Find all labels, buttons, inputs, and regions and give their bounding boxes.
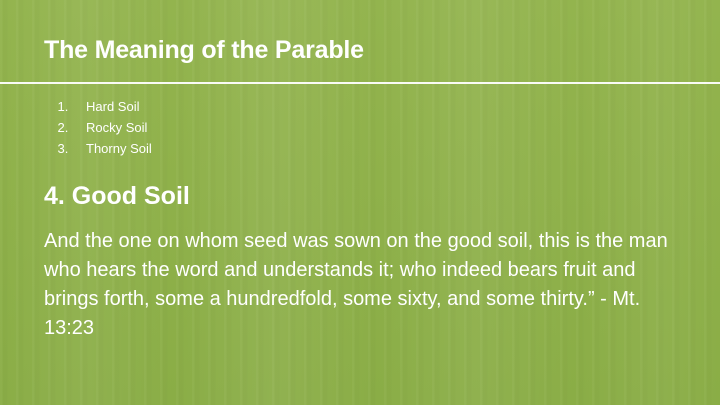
- page-title: The Meaning of the Parable: [44, 36, 364, 65]
- list-item-label: Hard Soil: [86, 99, 139, 114]
- list-item: Hard Soil: [72, 96, 692, 117]
- title-area: The Meaning of the Parable: [0, 0, 720, 82]
- list-item: Thorny Soil: [72, 138, 692, 159]
- slide: The Meaning of the Parable Hard Soil Roc…: [0, 0, 720, 405]
- title-divider: [0, 82, 720, 84]
- slide-body: Hard Soil Rocky Soil Thorny Soil 4. Good…: [44, 96, 692, 343]
- highlight-heading: 4. Good Soil: [44, 181, 692, 211]
- soil-type-list: Hard Soil Rocky Soil Thorny Soil: [44, 96, 692, 159]
- list-item-label: Thorny Soil: [86, 141, 152, 156]
- list-item: Rocky Soil: [72, 117, 692, 138]
- list-item-label: Rocky Soil: [86, 120, 147, 135]
- scripture-paragraph: And the one on whom seed was sown on the…: [44, 227, 692, 343]
